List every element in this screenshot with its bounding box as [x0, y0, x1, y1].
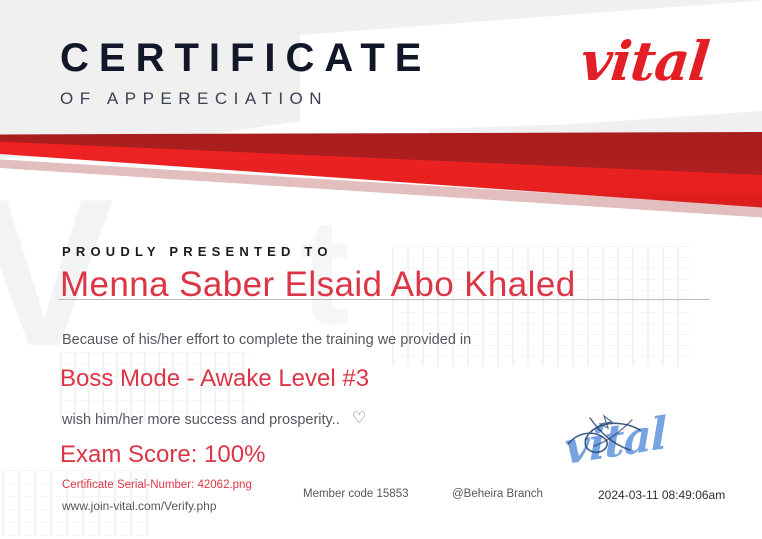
handwritten-signature-icon	[560, 410, 720, 480]
branch-name: @Beheira Branch	[452, 488, 543, 500]
verify-url[interactable]: www.join-vital.com/Verify.php	[62, 499, 217, 513]
member-code: Member code 15853	[303, 488, 408, 500]
presented-to-label: PROUDLY PRESENTED TO	[62, 244, 333, 259]
certificate-title: CERTIFICATE	[60, 38, 431, 78]
issue-date: 2024-03-11 08:49:06am	[598, 488, 725, 502]
heart-icon: ♡	[352, 411, 366, 427]
vital-brand-logo: vital	[578, 34, 711, 88]
course-title: Boss Mode - Awake Level #3	[60, 365, 369, 393]
recipient-name-underline	[58, 299, 710, 300]
reason-text: Because of his/her effort to complete th…	[62, 332, 471, 348]
certificate-page: V t CERTIFICATE OF APPERECIATION vital P…	[0, 0, 762, 539]
watermark-grid-pattern	[392, 246, 692, 366]
certificate-subtitle: OF APPERECIATION	[60, 89, 431, 109]
exam-score: Exam Score: 100%	[60, 441, 265, 469]
approval-stamp: vital	[564, 414, 724, 490]
wish-text: wish him/her more success and prosperity…	[62, 412, 340, 428]
certificate-serial-number: Certificate Serial-Number: 42062.png	[62, 479, 252, 491]
certificate-title-block: CERTIFICATE OF APPERECIATION	[60, 38, 431, 109]
